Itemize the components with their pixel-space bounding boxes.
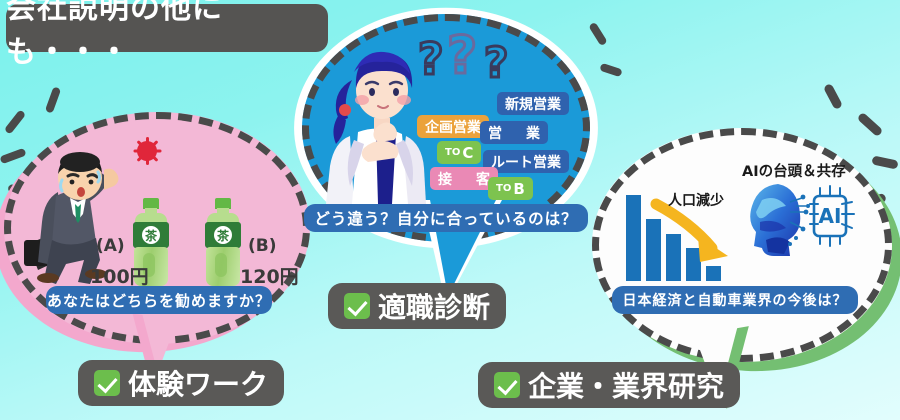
- bottle-label: 茶: [133, 222, 169, 248]
- caption-aptitude: どう違う？自分に合っているのは？: [304, 204, 588, 232]
- product-b-price: 120円: [240, 262, 299, 289]
- page-title-text: 会社説明の他にも・・・: [6, 0, 328, 71]
- ai-heading-label: AIの台頭＆共存: [742, 160, 846, 181]
- label-company-industry-research-text: 企業・業界研究: [528, 365, 724, 405]
- check-icon: [344, 293, 370, 319]
- radiating-dash: [588, 22, 608, 47]
- radiating-dash: [823, 83, 843, 110]
- chart-bar: [706, 266, 721, 281]
- job-tag-to-c-letter: C: [462, 144, 473, 162]
- label-experience-work[interactable]: 体験ワーク: [78, 360, 284, 406]
- job-tag-to-b-prefix: TO: [496, 183, 511, 194]
- bottle-label-char: 茶: [142, 226, 160, 244]
- product-a-name: (A): [96, 236, 125, 256]
- radiating-dash: [45, 86, 61, 113]
- job-tag-to-c-prefix: TO: [445, 147, 460, 158]
- label-aptitude-test[interactable]: 適職診断: [328, 283, 506, 329]
- job-tag-to-b-letter: B: [513, 180, 524, 198]
- label-company-industry-research[interactable]: 企業・業界研究: [478, 362, 740, 408]
- job-tag-new-sales[interactable]: 新規営業: [497, 92, 569, 115]
- job-tag-to-b[interactable]: TO B: [488, 177, 533, 200]
- caption-experience: あなたはどちらを勧めますか？: [46, 286, 272, 314]
- question-mark-icon: ?: [484, 42, 508, 84]
- sun-icon: [133, 137, 161, 165]
- bottle-label: 茶: [205, 222, 241, 248]
- population-decline-label: 人口減少: [668, 190, 724, 210]
- product-b-name: (B): [248, 236, 277, 256]
- question-mark-icon: ?: [418, 38, 444, 82]
- job-tag-sales[interactable]: 営 業: [480, 121, 548, 144]
- product-a-price: 100円: [90, 262, 149, 289]
- bottle-label-char: 茶: [214, 226, 232, 244]
- svg-text:AI: AI: [819, 204, 842, 228]
- label-experience-work-text: 体験ワーク: [128, 363, 268, 403]
- label-aptitude-test-text: 適職診断: [378, 286, 490, 326]
- job-tag-planning-sales[interactable]: 企画営業: [417, 115, 489, 138]
- infographic-canvas: 会社説明の他にも・・・: [0, 0, 900, 420]
- question-mark-icon: ?: [447, 30, 477, 82]
- check-icon: [94, 370, 120, 396]
- page-title: 会社説明の他にも・・・: [6, 4, 328, 52]
- chart-bar: [626, 195, 641, 281]
- caption-research: 日本経済と自動車業界の今後は？: [612, 286, 858, 314]
- job-tag-to-c[interactable]: TO C: [437, 141, 481, 164]
- radiating-dash: [599, 63, 622, 77]
- ai-chip-and-head-icon: AI: [744, 178, 862, 256]
- check-icon: [494, 372, 520, 398]
- bottle-body: [206, 247, 240, 286]
